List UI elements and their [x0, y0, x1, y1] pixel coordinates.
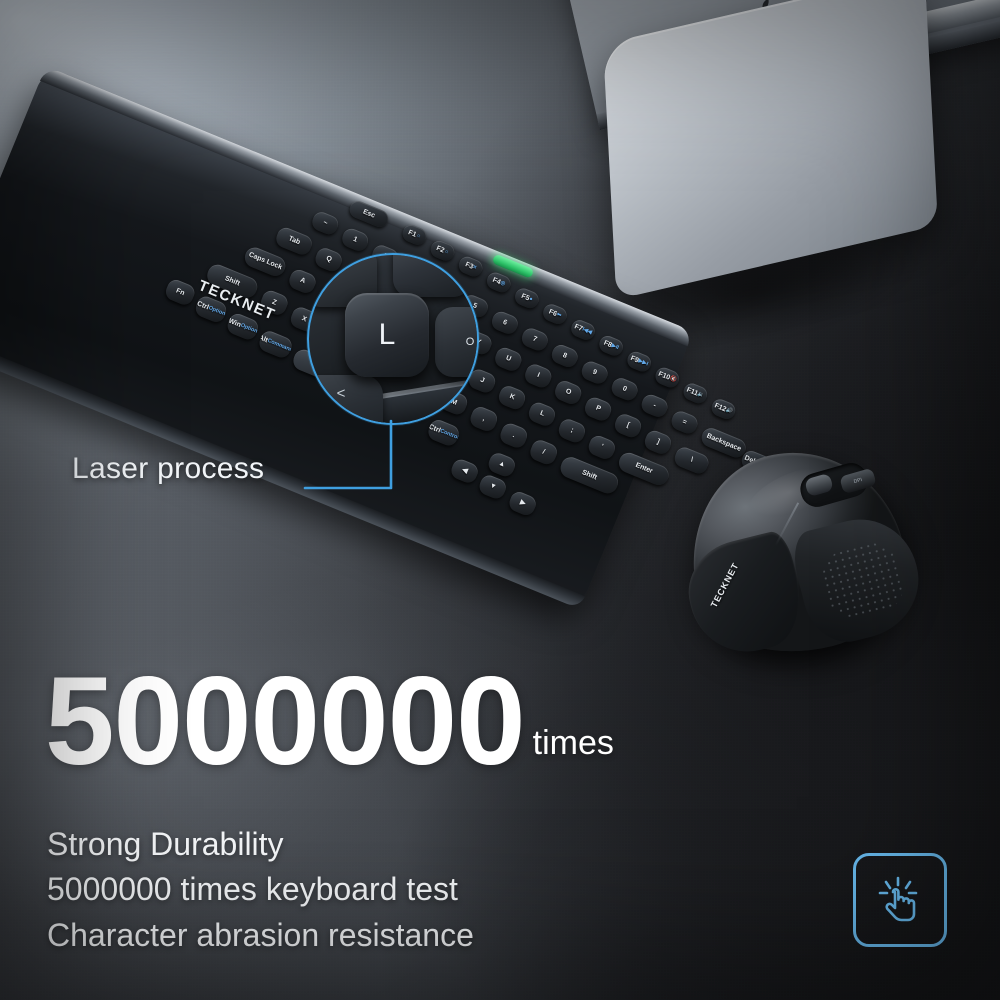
image-vignette	[0, 0, 1000, 1000]
product-image-canvas: EscF1☼F2☼F3⌗F4◎F5●F6⬅F7I◀◀F8▶IIF9▶▶IF10🔇…	[0, 0, 1000, 1000]
